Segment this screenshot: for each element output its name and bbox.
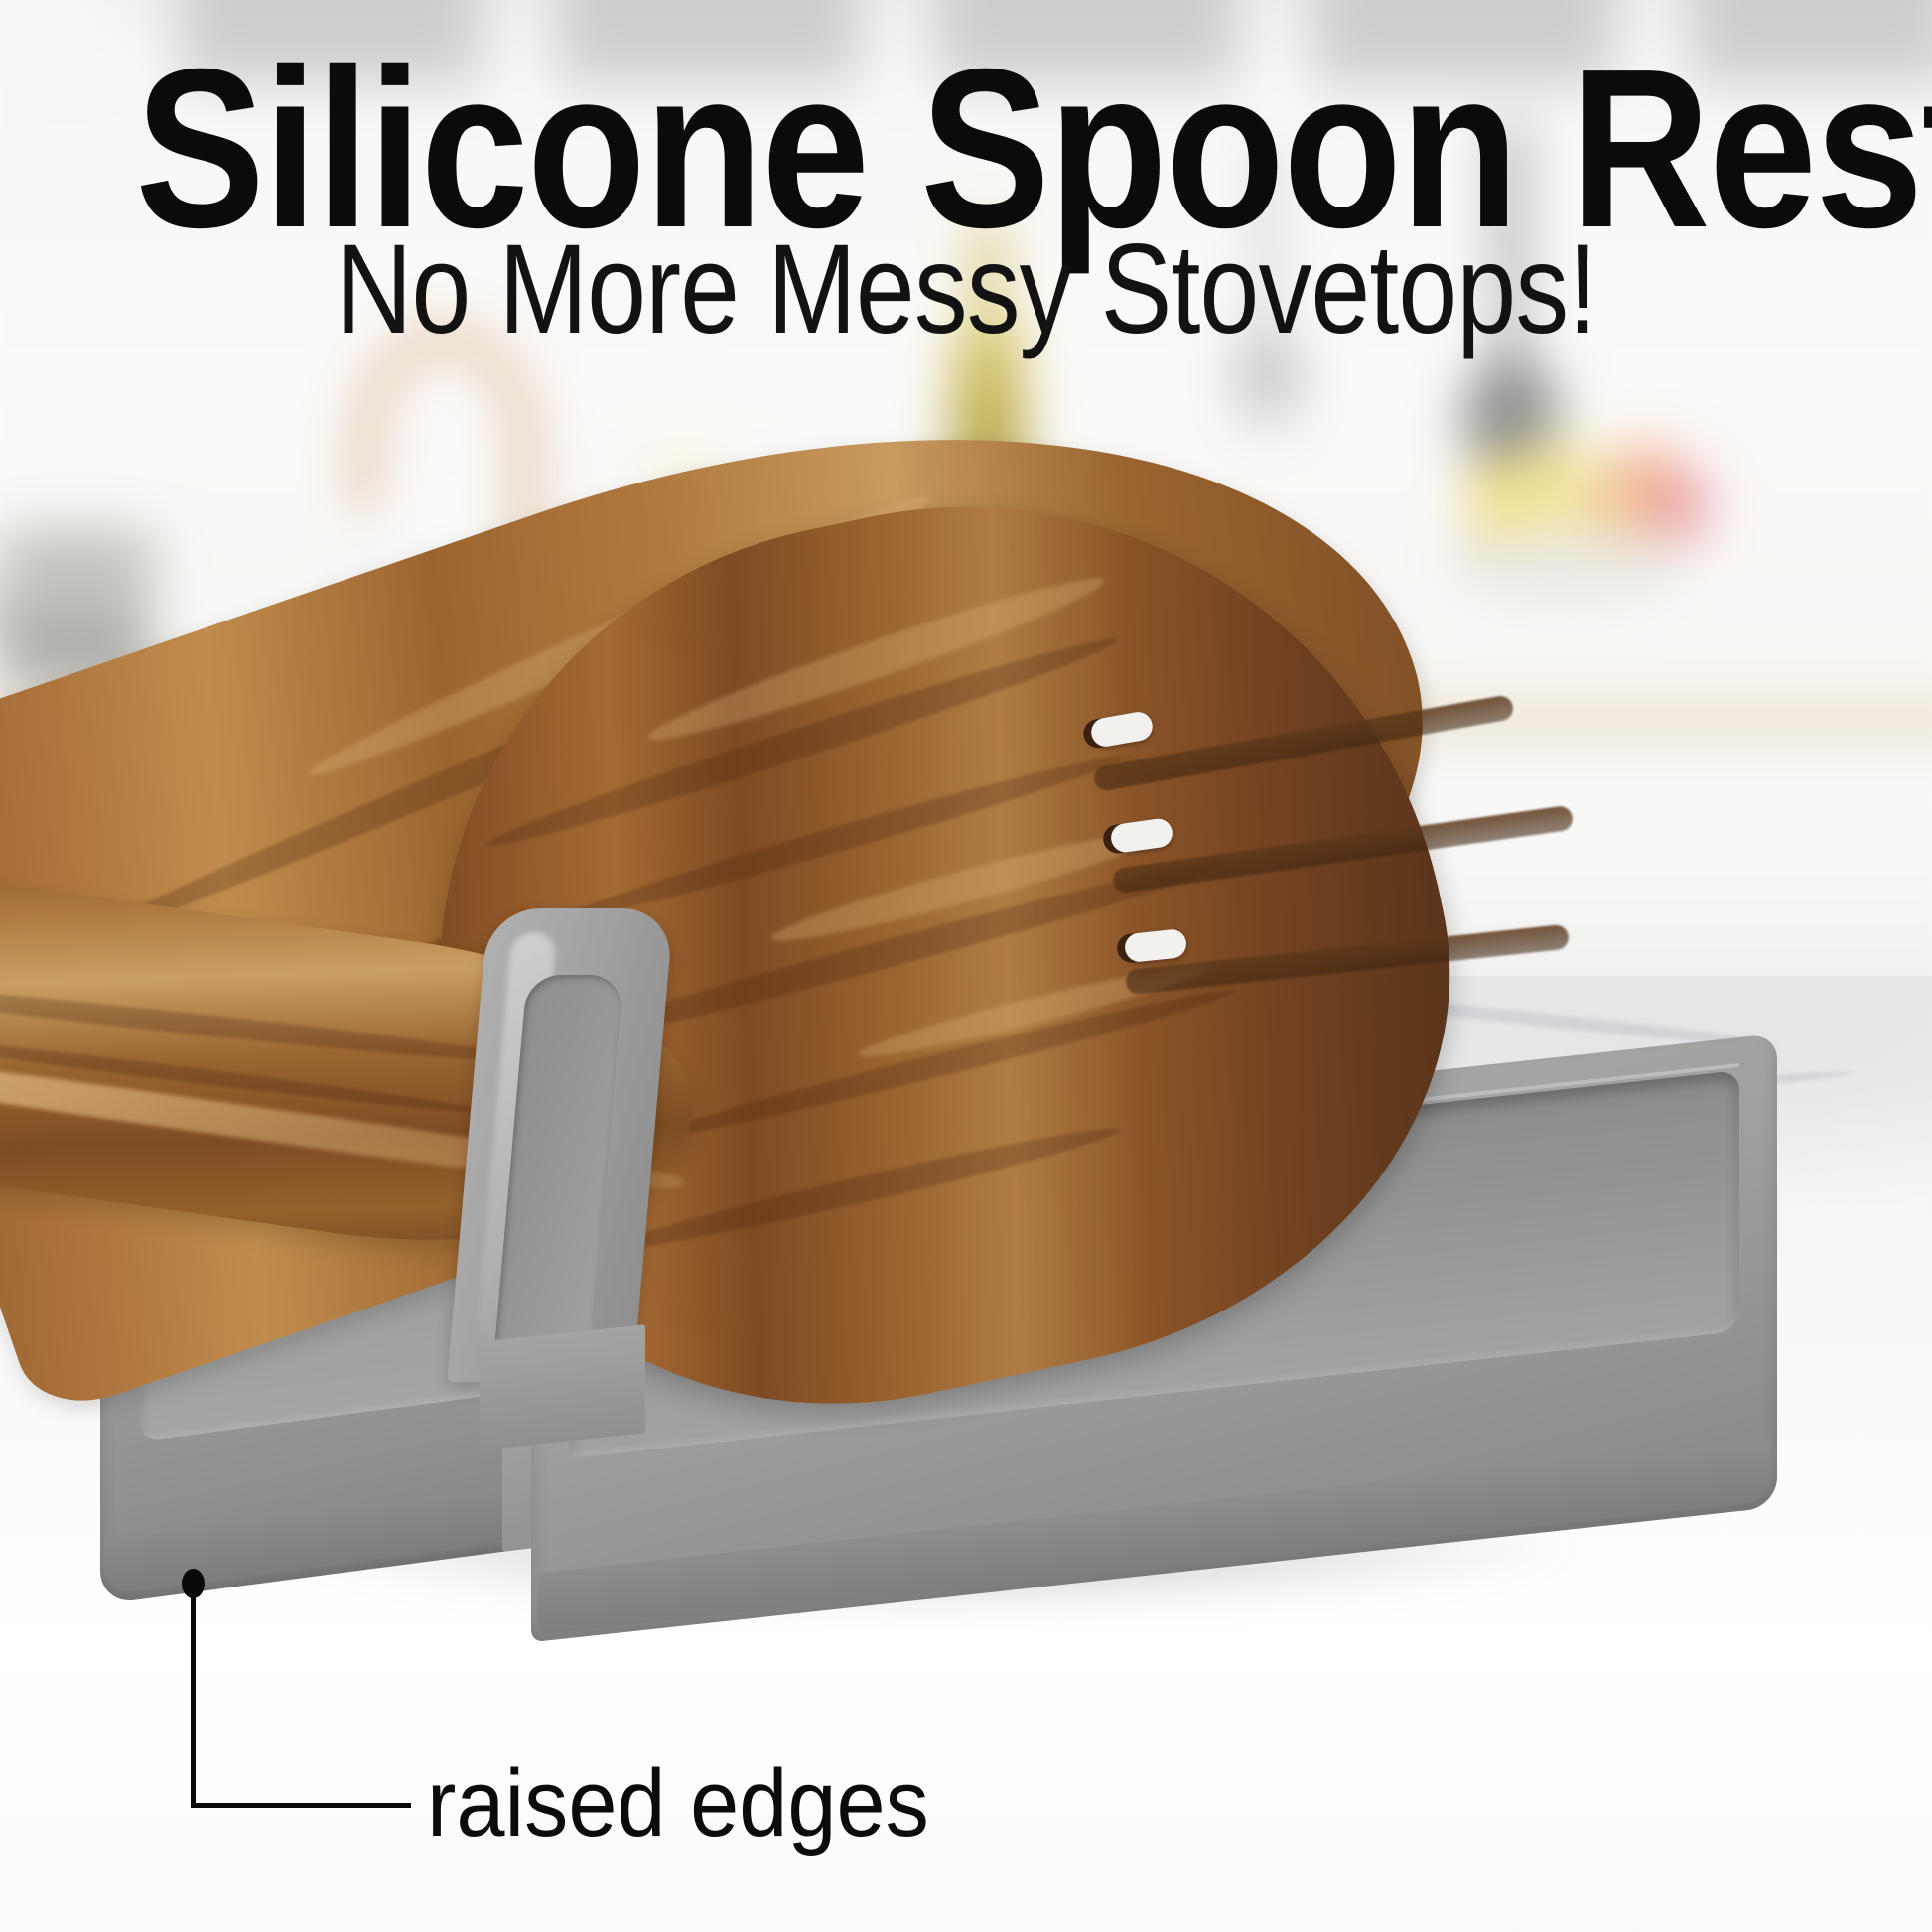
page-subtitle: No More Messy Stovetops! (155, 226, 1778, 353)
product-image-canvas: Silicone Spoon Rest No More Messy Stovet… (0, 0, 1932, 1932)
arch-foot (480, 1324, 645, 1450)
